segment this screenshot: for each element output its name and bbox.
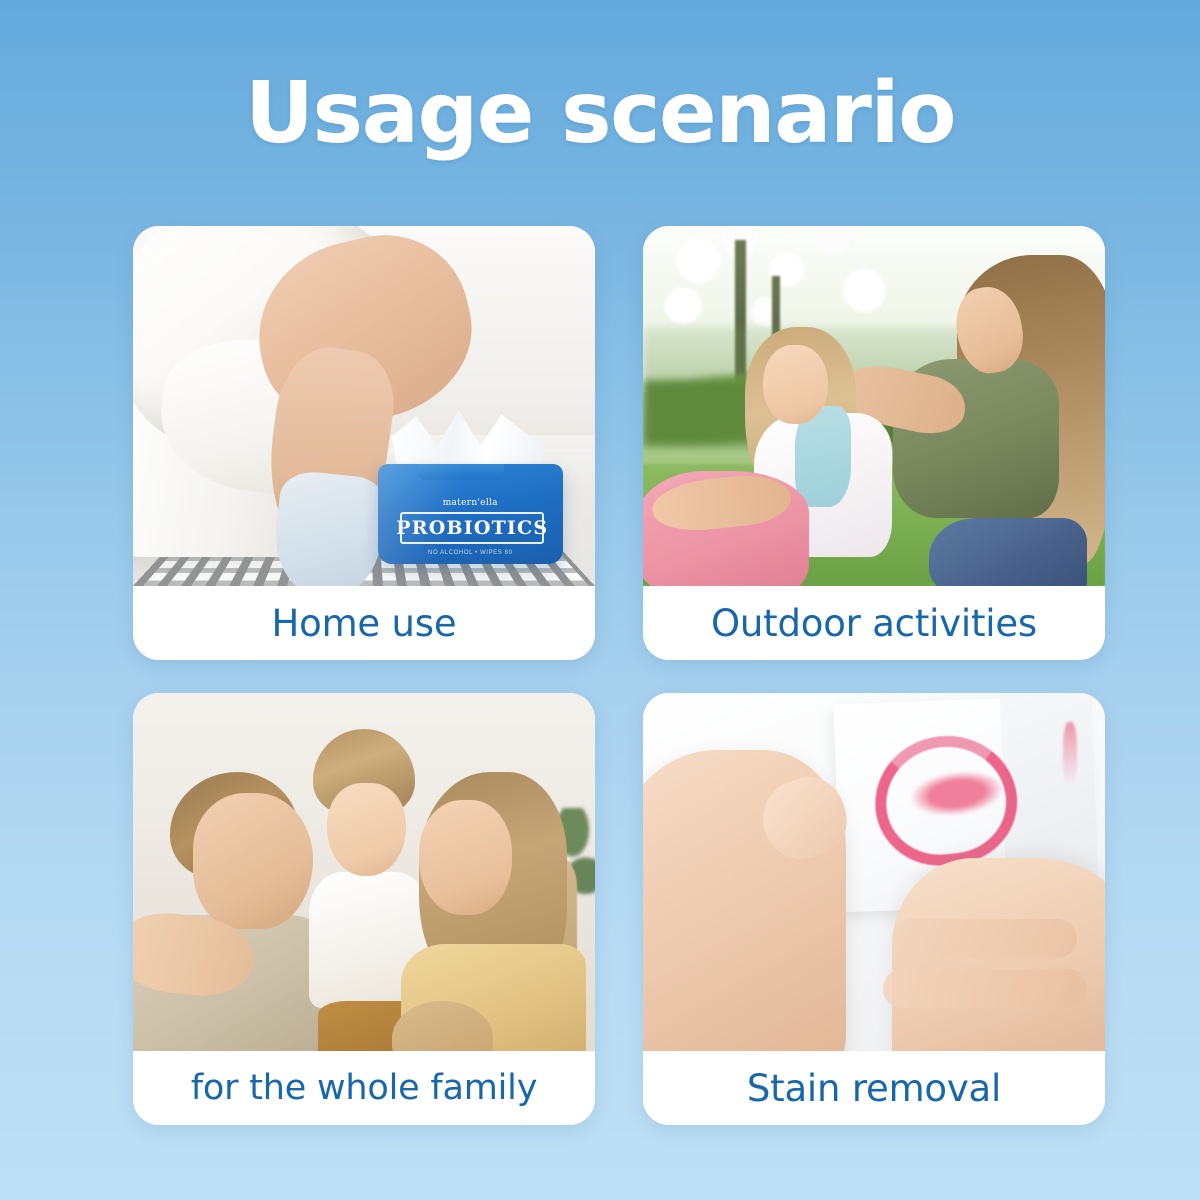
package-product-label: PROBIOTICS <box>400 512 544 544</box>
lipstick-stain-fleck <box>1063 722 1077 786</box>
wipes-package: matern'ella PROBIOTICS NO ALCOHOL • WIPE… <box>378 464 563 565</box>
girl-face <box>763 345 828 424</box>
photo-outdoor-scene <box>643 226 1105 586</box>
package-lid <box>419 464 504 480</box>
usage-card-stain-removal[interactable]: Stain removal <box>643 693 1105 1125</box>
photo-home-use: matern'ella PROBIOTICS NO ALCOHOL • WIPE… <box>133 226 595 586</box>
woman-sock <box>270 469 388 586</box>
photo-whole-family <box>133 693 595 1051</box>
father-face <box>193 793 313 929</box>
usage-card-whole-family[interactable]: for the whole family <box>133 693 595 1125</box>
mother-face <box>419 800 511 915</box>
usage-card-outdoor-activities[interactable]: Outdoor activities <box>643 226 1105 660</box>
boy-face <box>327 783 406 876</box>
photo-home-use-scene: matern'ella PROBIOTICS NO ALCOHOL • WIPE… <box>133 226 595 586</box>
right-hand-finger-upper <box>892 919 1077 958</box>
caption-outdoor-activities: Outdoor activities <box>643 586 1105 660</box>
photo-family-scene <box>133 693 595 1051</box>
usage-scenario-infographic: Usage scenario matern'e <box>0 0 1200 1200</box>
usage-card-home-use[interactable]: matern'ella PROBIOTICS NO ALCOHOL • WIPE… <box>133 226 595 660</box>
photo-stain-removal <box>643 693 1105 1051</box>
package-subtitle-label: NO ALCOHOL • WIPES 80 <box>378 550 563 556</box>
caption-home-use: Home use <box>133 586 595 660</box>
usage-scenario-grid: matern'ella PROBIOTICS NO ALCOHOL • WIPE… <box>133 226 1105 1125</box>
package-brand-label: matern'ella <box>378 498 563 508</box>
caption-stain-removal: Stain removal <box>643 1051 1105 1125</box>
page-title: Usage scenario <box>0 66 1200 162</box>
photo-stain-scene <box>643 693 1105 1051</box>
caption-whole-family: for the whole family <box>133 1051 595 1125</box>
photo-outdoor-activities <box>643 226 1105 586</box>
right-hand-finger-lower <box>883 969 1086 1008</box>
mother-jeans <box>929 518 1086 586</box>
